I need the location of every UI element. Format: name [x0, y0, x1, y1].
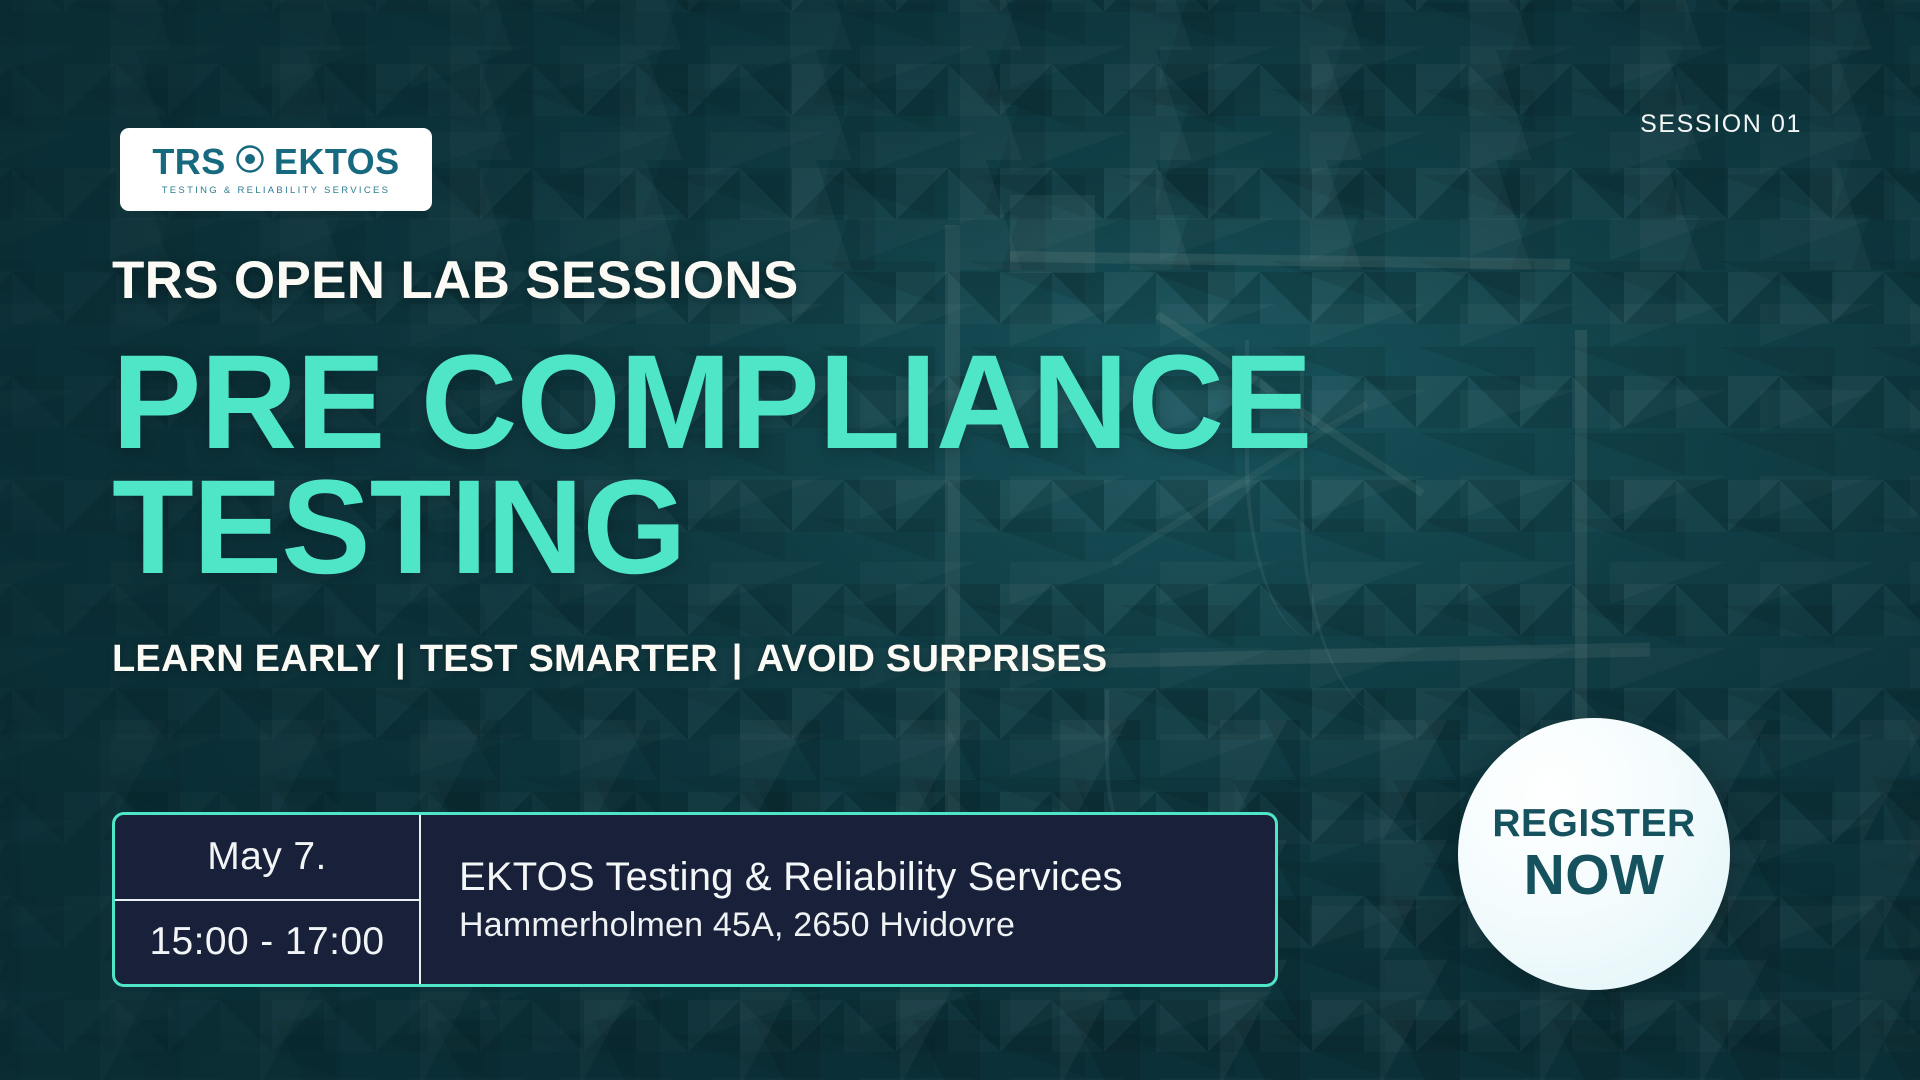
tagline-item-2: TEST SMARTER [420, 638, 718, 681]
session-label: SESSION 01 [1640, 110, 1802, 139]
tagline-separator-1: | [395, 638, 406, 681]
headline-line-2: TESTING [112, 466, 1612, 591]
event-time: 15:00 - 17:00 [115, 901, 419, 985]
event-venue: EKTOS Testing & Reliability Services [459, 855, 1275, 900]
register-label: REGISTER [1492, 804, 1695, 843]
main-headline: PRE COMPLIANCE TESTING [112, 341, 1612, 590]
headline-block: TRS OPEN LAB SESSIONS PRE COMPLIANCE TES… [112, 254, 1612, 681]
headline-line-1: PRE COMPLIANCE [112, 341, 1612, 466]
trs-ektos-logo: TRS EKTOS TESTING & RELIABILITY SERVICES [120, 128, 432, 211]
now-label: NOW [1524, 847, 1665, 904]
event-details-box: May 7. 15:00 - 17:00 EKTOS Testing & Rel… [112, 812, 1278, 987]
logo-word-trs: TRS [152, 144, 226, 180]
tagline-item-3: AVOID SURPRISES [757, 638, 1108, 681]
event-when-column: May 7. 15:00 - 17:00 [115, 815, 421, 984]
logo-tagline: TESTING & RELIABILITY SERVICES [162, 185, 391, 196]
tagline-separator-2: | [732, 638, 743, 681]
event-where-column: EKTOS Testing & Reliability Services Ham… [421, 815, 1275, 984]
logo-word-ektos: EKTOS [274, 144, 400, 180]
register-now-badge[interactable]: REGISTER NOW [1458, 718, 1730, 990]
event-address: Hammerholmen 45A, 2650 Hvidovre [459, 906, 1275, 945]
eyebrow-title: TRS OPEN LAB SESSIONS [112, 254, 1612, 307]
event-date: May 7. [115, 815, 419, 901]
event-promo-banner: TRS EKTOS TESTING & RELIABILITY SERVICES… [0, 0, 1920, 1080]
target-dot-icon [235, 144, 265, 179]
logo-wordmark-row: TRS EKTOS [152, 144, 399, 180]
tagline-item-1: LEARN EARLY [112, 638, 381, 681]
benefits-tagline: LEARN EARLY | TEST SMARTER | AVOID SURPR… [112, 638, 1612, 681]
